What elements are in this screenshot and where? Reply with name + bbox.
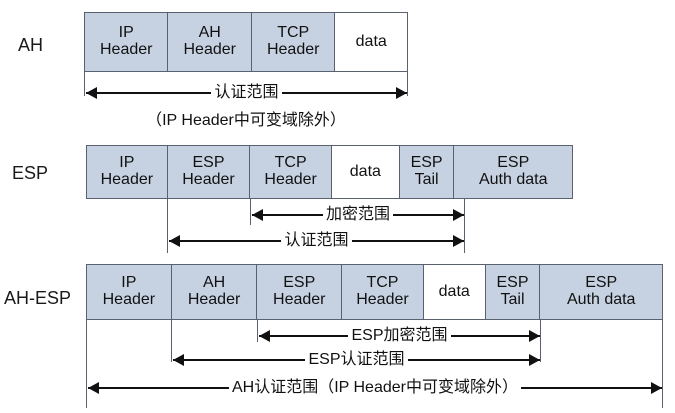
tick-ah-auth-right <box>407 72 408 96</box>
field-line1: ESP <box>497 155 529 172</box>
field-esp-header: ESP Header <box>257 265 342 319</box>
field-line2: Tail <box>415 172 439 189</box>
field-line1: TCP <box>366 275 398 292</box>
tick-ahesp-ah-auth-left <box>86 320 87 408</box>
field-line1: data <box>350 164 381 181</box>
field-line2: Header <box>101 172 153 189</box>
tick-ahesp-ah-auth-right <box>662 320 663 408</box>
arrow-esp-encrypt-scope: 加密范围 <box>252 206 464 224</box>
row-label-esp: ESP <box>12 163 48 184</box>
field-tcp-header: TCP Header <box>252 13 335 71</box>
field-esp-tail: ESP Tail <box>400 146 455 198</box>
field-line1: ESP <box>497 275 529 292</box>
packet-row-ah-esp: IP Header AH Header ESP Header TCP Heade… <box>86 264 663 320</box>
tick-esp-scope-right <box>464 199 465 253</box>
arrow-ahesp-ah-auth-scope: AH认证范围（IP Header中可变域除外） <box>88 379 662 397</box>
field-line2: Header <box>182 172 234 189</box>
arrow-head-right-icon <box>529 354 540 366</box>
arrow-head-right-icon <box>396 87 407 99</box>
arrow-ah-auth-scope: 认证范围 <box>86 84 407 102</box>
field-ip-header: IP Header <box>87 146 168 198</box>
field-line1: ESP <box>585 275 617 292</box>
packet-row-esp: IP Header ESP Header TCP Header data ESP… <box>86 145 573 199</box>
field-line2: Header <box>188 292 240 309</box>
field-line1: AH <box>203 275 225 292</box>
arrow-head-left-icon <box>173 354 184 366</box>
arrow-head-right-icon <box>651 382 662 394</box>
field-line2: Header <box>264 172 316 189</box>
field-esp-auth-data: ESP Auth data <box>540 265 662 319</box>
field-tcp-header: TCP Header <box>342 265 424 319</box>
field-line2: Header <box>103 292 155 309</box>
field-esp-auth-data: ESP Auth data <box>454 146 572 198</box>
field-line2: Header <box>183 42 235 59</box>
field-ah-header: AH Header <box>172 265 258 319</box>
field-line2: Header <box>267 42 319 59</box>
field-line2: Tail <box>501 292 525 309</box>
field-tcp-header: TCP Header <box>250 146 332 198</box>
arrow-head-left-icon <box>86 87 97 99</box>
arrow-label: 认证范围 <box>211 85 281 101</box>
tick-ahesp-esp-scope-right <box>540 320 541 362</box>
field-line1: IP <box>119 25 134 42</box>
row-label-ah-esp: AH-ESP <box>4 288 71 309</box>
field-data: data <box>332 146 400 198</box>
arrow-label: ESP认证范围 <box>305 352 407 368</box>
arrow-head-right-icon <box>453 235 464 247</box>
arrow-ahesp-esp-encrypt-scope: ESP加密范围 <box>259 327 540 345</box>
field-ip-header: IP Header <box>87 265 172 319</box>
arrow-label: 认证范围 <box>281 233 351 249</box>
field-line1: TCP <box>275 155 307 172</box>
tick-ah-auth-left <box>84 72 85 96</box>
arrow-head-left-icon <box>88 382 99 394</box>
field-line2: Header <box>100 42 152 59</box>
tick-ahesp-esp-encrypt-left <box>257 320 258 342</box>
field-line2: Auth data <box>567 292 636 309</box>
field-line1: data <box>356 34 387 51</box>
arrow-ahesp-esp-auth-scope: ESP认证范围 <box>173 351 540 369</box>
field-line2: Header <box>273 292 325 309</box>
field-esp-tail: ESP Tail <box>486 265 541 319</box>
tick-ahesp-esp-auth-left <box>171 320 172 362</box>
field-data: data <box>424 265 486 319</box>
arrow-head-left-icon <box>169 235 180 247</box>
arrow-head-right-icon <box>453 209 464 221</box>
tick-esp-encrypt-left <box>250 199 251 225</box>
field-line2: Header <box>356 292 408 309</box>
field-line1: AH <box>199 25 221 42</box>
field-line1: data <box>439 284 470 301</box>
tick-esp-auth-left <box>167 199 168 253</box>
field-line2: Auth data <box>479 172 548 189</box>
arrow-label: ESP加密范围 <box>348 328 450 344</box>
field-esp-header: ESP Header <box>168 146 251 198</box>
field-line1: ESP <box>411 155 443 172</box>
packet-row-ah: IP Header AH Header TCP Header data <box>84 12 408 72</box>
field-line1: IP <box>121 275 136 292</box>
field-line1: TCP <box>277 25 309 42</box>
caption-ah-auth-note: （IP Header中可变域除外） <box>84 106 408 130</box>
arrow-label: AH认证范围（IP Header中可变域除外） <box>229 380 521 396</box>
caption-text: （IP Header中可变域除外） <box>146 112 346 129</box>
field-line1: ESP <box>192 155 224 172</box>
arrow-head-left-icon <box>252 209 263 221</box>
field-line1: ESP <box>283 275 315 292</box>
arrow-head-left-icon <box>259 330 270 342</box>
field-ah-header: AH Header <box>168 13 251 71</box>
field-line1: IP <box>119 155 134 172</box>
arrow-head-right-icon <box>529 330 540 342</box>
arrow-esp-auth-scope: 认证范围 <box>169 232 464 250</box>
row-label-ah: AH <box>18 35 43 56</box>
arrow-label: 加密范围 <box>323 207 393 223</box>
field-data: data <box>335 13 407 71</box>
ipsec-packet-diagram: AH IP Header AH Header TCP Header data 认… <box>0 0 675 413</box>
field-ip-header: IP Header <box>85 13 168 71</box>
